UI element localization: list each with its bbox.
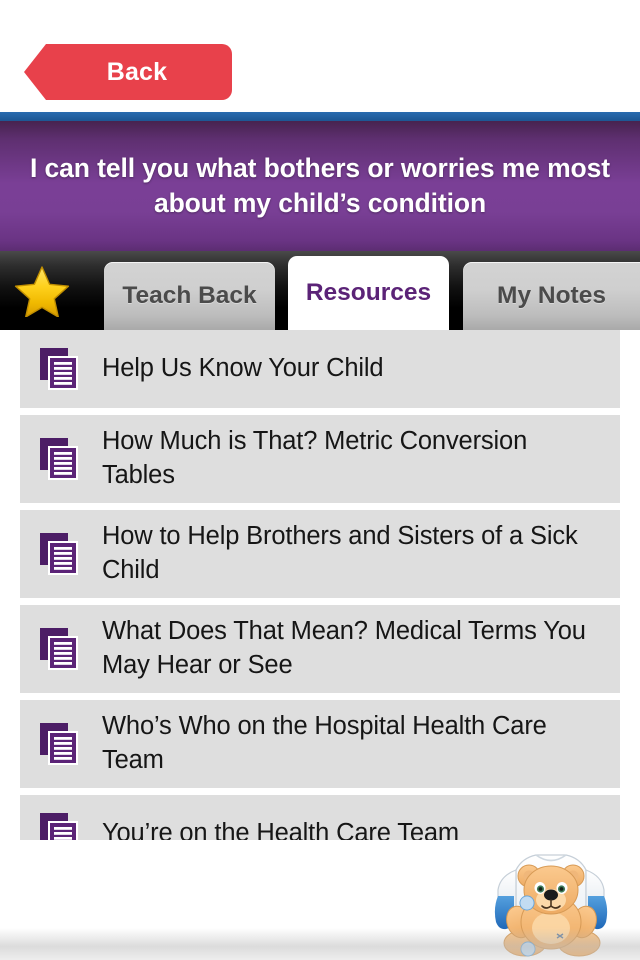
blue-accent-strip <box>0 112 640 121</box>
document-copy-icon <box>38 531 84 577</box>
tab-teach-back[interactable]: Teach Back <box>104 262 275 330</box>
resource-row-label: How to Help Brothers and Sisters of a Si… <box>102 520 610 587</box>
footer-shadow <box>0 928 640 960</box>
resource-row[interactable]: Help Us Know Your Child <box>20 330 620 408</box>
resource-row-label: Who’s Who on the Hospital Health Care Te… <box>102 710 610 777</box>
top-bar: Back <box>0 0 640 112</box>
footer <box>0 840 640 960</box>
document-copy-icon <box>38 721 84 767</box>
resource-row[interactable]: Who’s Who on the Hospital Health Care Te… <box>20 700 620 788</box>
resource-row[interactable]: What Does That Mean? Medical Terms You M… <box>20 605 620 693</box>
back-button[interactable]: Back <box>24 44 232 100</box>
back-button-label: Back <box>24 44 232 100</box>
tab-resources[interactable]: Resources <box>288 256 449 330</box>
document-copy-icon <box>38 626 84 672</box>
resource-row-label: What Does That Mean? Medical Terms You M… <box>102 615 610 682</box>
resource-row[interactable]: How to Help Brothers and Sisters of a Si… <box>20 510 620 598</box>
resource-list: Help Us Know Your Child How Much is That… <box>0 330 640 880</box>
resource-row[interactable]: How Much is That? Metric Conversion Tabl… <box>20 415 620 503</box>
document-copy-icon <box>38 436 84 482</box>
resource-row-label: How Much is That? Metric Conversion Tabl… <box>102 425 610 492</box>
tab-my-notes-label: My Notes <box>497 282 606 310</box>
star-icon[interactable] <box>14 265 70 317</box>
tab-resources-label: Resources <box>306 279 431 307</box>
tab-my-notes[interactable]: My Notes <box>463 262 640 330</box>
statement-header: I can tell you what bothers or worries m… <box>0 121 640 251</box>
tab-teach-back-label: Teach Back <box>122 282 256 310</box>
resource-row-label: Help Us Know Your Child <box>102 352 391 386</box>
statement-text: I can tell you what bothers or worries m… <box>0 151 640 221</box>
tab-bar: Teach Back Resources My Notes <box>0 251 640 330</box>
document-copy-icon <box>38 346 84 392</box>
